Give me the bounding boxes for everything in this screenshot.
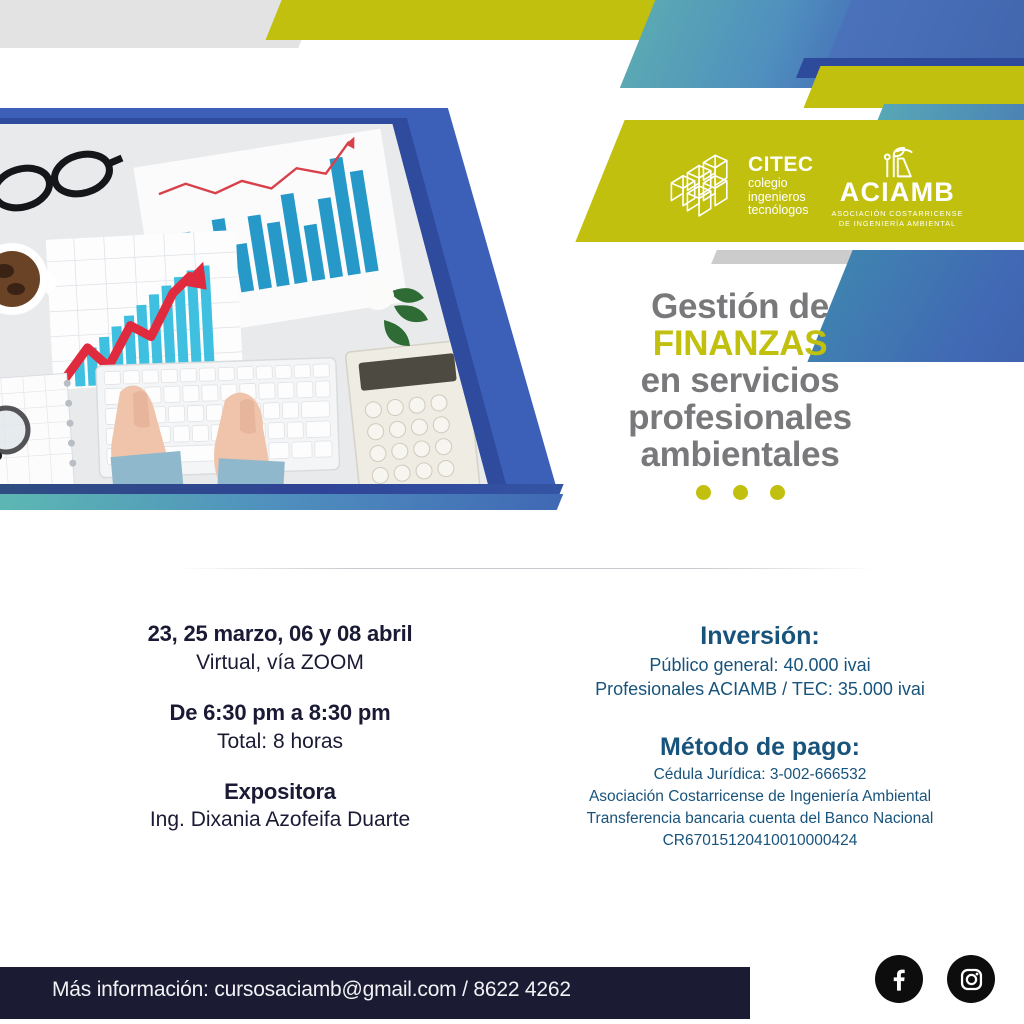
dot-icon [770, 485, 785, 500]
poster-canvas: CITEC colegio ingenieros tecnólogos ACIA… [0, 0, 1024, 1024]
investment-line-2: Profesionales ACIAMB / TEC: 35.000 ivai [530, 677, 990, 701]
citec-logo: CITEC colegio ingenieros tecnólogos [665, 151, 814, 221]
dot-icon [733, 485, 748, 500]
aciamb-sub: ASOCIACIÓN COSTARRICENSE DE INGENIERÍA A… [832, 209, 964, 229]
citec-wordmark: CITEC colegio ingenieros tecnólogos [748, 154, 814, 217]
isometric-cubes-icon [665, 151, 739, 221]
detail-block-schedule: De 6:30 pm a 8:30 pm Total: 8 horas [40, 699, 520, 756]
schedule-label: De 6:30 pm a 8:30 pm [40, 699, 520, 728]
detail-block-dates: 23, 25 marzo, 06 y 08 abril Virtual, vía… [40, 620, 520, 677]
title-line-4: profesionales [590, 399, 890, 436]
investment-block: Inversión: Público general: 40.000 ivai … [530, 620, 990, 701]
aciamb-sub-1: ASOCIACIÓN COSTARRICENSE [832, 209, 964, 219]
speaker-name: Ing. Dixania Azofeifa Duarte [40, 806, 520, 834]
logo-row: CITEC colegio ingenieros tecnólogos ACIA… [665, 138, 1024, 234]
title-line-3: en servicios [590, 362, 890, 399]
plant-sprout-icon [877, 144, 917, 178]
social-links [875, 955, 995, 1003]
instagram-icon[interactable] [947, 955, 995, 1003]
payment-line-4: CR67015120410010000424 [530, 830, 990, 852]
aciamb-sub-2: DE INGENIERÍA AMBIENTAL [832, 219, 964, 229]
teal-bottom-strip [0, 494, 563, 510]
contact-info-text: Más información: cursosaciamb@gmail.com … [52, 978, 571, 1002]
section-divider [175, 568, 875, 569]
title-line-2-accent: FINANZAS [590, 325, 890, 362]
investment-heading: Inversión: [530, 620, 990, 653]
detail-block-speaker: Expositora Ing. Dixania Azofeifa Duarte [40, 778, 520, 835]
payment-block: Método de pago: Cédula Jurídica: 3-002-6… [530, 731, 990, 852]
dots-decoration [590, 485, 890, 500]
speaker-heading: Expositora [40, 778, 520, 807]
title-line-1: Gestión de [590, 288, 890, 325]
investment-line-1: Público general: 40.000 ivai [530, 653, 990, 677]
citec-sub-1: colegio [748, 177, 814, 191]
page-title: Gestión de FINANZAS en servicios profesi… [590, 288, 890, 473]
aciamb-logo: ACIAMB ASOCIACIÓN COSTARRICENSE DE INGEN… [832, 144, 964, 229]
total-hours-label: Total: 8 horas [40, 728, 520, 756]
modality-label: Virtual, vía ZOOM [40, 649, 520, 677]
dates-label: 23, 25 marzo, 06 y 08 abril [40, 620, 520, 649]
dot-icon [696, 485, 711, 500]
citec-sub-3: tecnólogos [748, 204, 814, 218]
olive-secondary-band [804, 66, 1024, 108]
aciamb-name: ACIAMB [840, 179, 955, 206]
course-details-column: 23, 25 marzo, 06 y 08 abril Virtual, vía… [40, 620, 520, 835]
pricing-and-payment-column: Inversión: Público general: 40.000 ivai … [530, 620, 990, 852]
payment-line-3: Transferencia bancaria cuenta del Banco … [530, 808, 990, 830]
payment-line-1: Cédula Jurídica: 3-002-666532 [530, 764, 990, 786]
payment-heading: Método de pago: [530, 731, 990, 764]
citec-name: CITEC [748, 154, 814, 177]
citec-sub-2: ingenieros [748, 191, 814, 205]
facebook-icon[interactable] [875, 955, 923, 1003]
payment-line-2: Asociación Costarricense de Ingeniería A… [530, 786, 990, 808]
title-line-5: ambientales [590, 436, 890, 473]
